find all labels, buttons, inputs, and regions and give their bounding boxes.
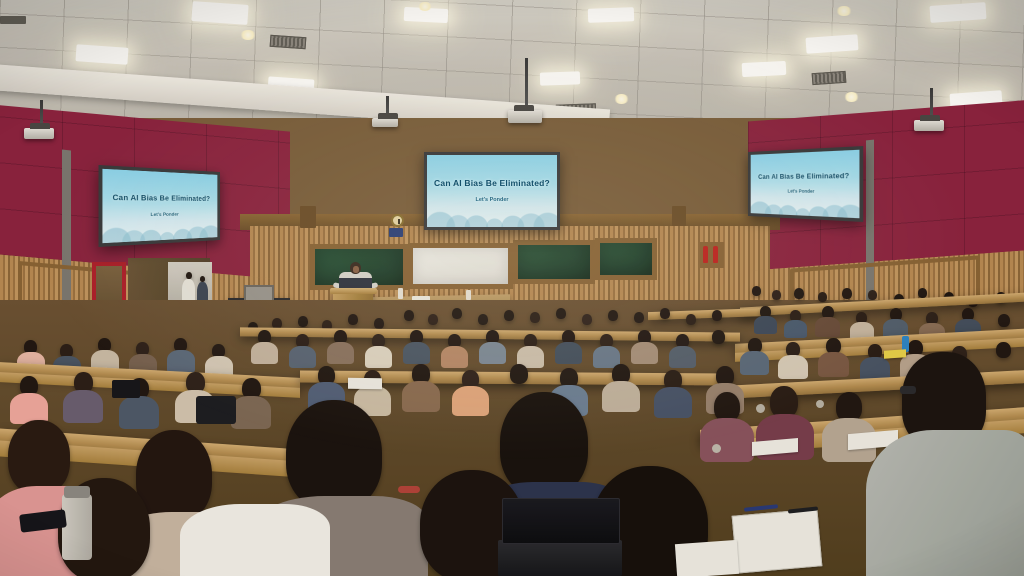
laptop-keyboard[interactable]: [498, 540, 622, 576]
notepad: [348, 378, 382, 390]
laptop-screen: [502, 498, 620, 544]
wall-clock: [391, 214, 404, 227]
ceiling-light-panel: [75, 44, 128, 65]
foreground-head: [136, 430, 212, 522]
desk-knob: [756, 404, 765, 413]
auxiliary-ceiling-projector: [372, 118, 398, 127]
desk-knob: [816, 400, 824, 408]
whiteboard-center: [408, 243, 513, 289]
foreground-head: [500, 392, 588, 496]
ceiling-downlight: [614, 94, 629, 104]
center-projection-screen: Can AI Bias Be Eliminated? Let's Ponder: [424, 152, 560, 230]
ceiling-light-panel: [742, 61, 787, 77]
foreground-body-right: [866, 430, 1024, 576]
podium-top: [330, 288, 377, 294]
speaker-face: [353, 266, 359, 273]
slide-subtitle: Let's Ponder: [151, 211, 179, 217]
left-projection-screen: Can AI Bias Be Eliminated? Let's Ponder: [99, 165, 220, 247]
ceiling-light-panel: [191, 1, 248, 25]
tablet: [196, 396, 236, 424]
foreground-head: [286, 400, 382, 510]
slide-title: Can AI Bias Be Eliminated?: [112, 195, 210, 204]
right-projection-screen: Can AI Bias Be Eliminated? Let's Ponder: [748, 146, 863, 222]
stage-bottle: [466, 290, 471, 300]
ceiling-downlight: [836, 6, 852, 16]
ceiling-air-vent: [270, 35, 307, 49]
slide-subtitle: Let's Ponder: [788, 188, 815, 194]
person-standing-head: [186, 272, 192, 279]
ceiling-light-panel: [588, 7, 634, 23]
slide-content: Can AI Bias Be Eliminated? Let's Ponder: [427, 155, 557, 227]
center-ceiling-projector: [508, 110, 542, 123]
slide-subtitle: Let's Ponder: [475, 197, 508, 203]
fire-extinguisher-icon: [713, 246, 718, 263]
chalkboard-far-right: [595, 238, 657, 280]
desk-knob: [712, 444, 721, 453]
foreground-body: [180, 504, 330, 576]
chalkboard-right: [513, 240, 595, 284]
ceiling-air-vent: [812, 71, 847, 85]
fire-extinguisher-icon: [703, 246, 708, 263]
notepad: [732, 508, 823, 573]
ceiling-downlight: [844, 92, 859, 102]
lecture-hall-photo: Can AI Bias Be Eliminated? Let's Ponder …: [0, 0, 1024, 576]
left-ceiling-projector: [24, 128, 54, 139]
thermos-cap: [64, 486, 90, 498]
wall-speaker-left: [300, 206, 316, 228]
slide-title: Can AI Bias Be Eliminated?: [434, 179, 550, 188]
wall-box: [389, 228, 403, 237]
right-ceiling-projector: [914, 120, 944, 131]
notepad: [675, 540, 739, 576]
ceiling-light-panel: [540, 71, 580, 85]
slide-content: Can AI Bias Be Eliminated? Let's Ponder: [102, 169, 217, 243]
stage-bottle: [398, 288, 403, 299]
ceiling-downlight: [418, 2, 432, 11]
foreground-head-left: [8, 420, 70, 494]
yellow-folder: [884, 349, 906, 359]
ceiling-downlight: [240, 30, 256, 40]
slide-title: Can AI Bias Be Eliminated?: [758, 174, 849, 182]
glasses-icon: [900, 386, 916, 394]
wall-speaker-right: [672, 206, 686, 226]
tablet: [112, 380, 140, 398]
wrist-band: [398, 486, 420, 493]
thermos-flask: [62, 494, 92, 560]
slide-content: Can AI Bias Be Eliminated? Let's Ponder: [751, 150, 860, 219]
ceiling-speaker: [0, 16, 26, 24]
projector-pole: [525, 58, 528, 110]
